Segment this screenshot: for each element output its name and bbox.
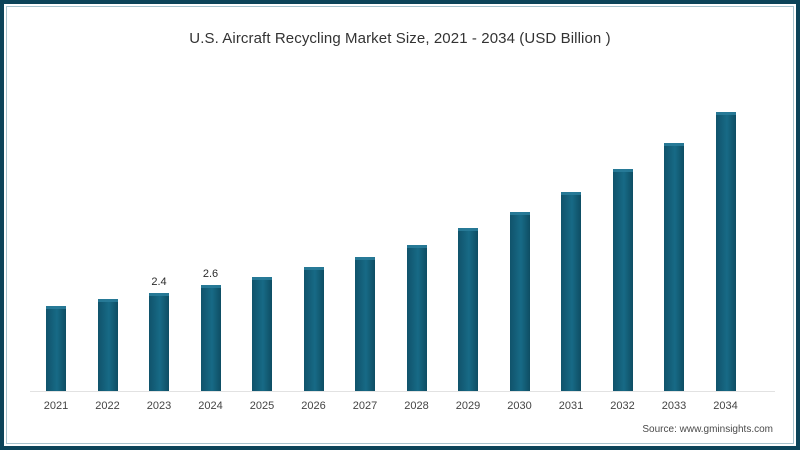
bar-value-label-2023: 2.4 <box>137 276 181 288</box>
bar-top-highlight <box>510 212 530 215</box>
bar-top-highlight <box>664 143 684 146</box>
bar-2025[interactable] <box>252 277 272 391</box>
bar-2032[interactable] <box>613 169 633 391</box>
x-tick-label-2031: 2031 <box>549 400 593 412</box>
x-tick-label-2032: 2032 <box>601 400 645 412</box>
bar-2028[interactable] <box>407 245 427 391</box>
bar-top-highlight <box>252 277 272 280</box>
bar-2034[interactable] <box>716 112 736 391</box>
bar-top-highlight <box>304 267 324 270</box>
x-tick-label-2021: 2021 <box>34 400 78 412</box>
bar-2031[interactable] <box>561 192 581 391</box>
x-tick-label-2033: 2033 <box>652 400 696 412</box>
x-tick-label-2025: 2025 <box>240 400 284 412</box>
x-tick-label-2026: 2026 <box>292 400 336 412</box>
bar-2029[interactable] <box>458 228 478 391</box>
x-tick-label-2034: 2034 <box>704 400 748 412</box>
x-tick-label-2024: 2024 <box>189 400 233 412</box>
bar-2024[interactable] <box>201 285 221 391</box>
x-tick-label-2028: 2028 <box>395 400 439 412</box>
x-axis-line <box>30 391 775 392</box>
bar-top-highlight <box>201 285 221 288</box>
x-tick-label-2023: 2023 <box>137 400 181 412</box>
bar-top-highlight <box>716 112 736 115</box>
bar-top-highlight <box>149 293 169 296</box>
bar-value-label-2024: 2.6 <box>189 268 233 280</box>
bar-2023[interactable] <box>149 293 169 391</box>
bar-top-highlight <box>46 306 66 309</box>
chart-screenshot: U.S. Aircraft Recycling Market Size, 202… <box>0 0 800 450</box>
bar-top-highlight <box>458 228 478 231</box>
bar-2027[interactable] <box>355 257 375 391</box>
source-attribution: Source: www.gminsights.com <box>642 424 773 435</box>
bar-2033[interactable] <box>664 143 684 391</box>
bar-2021[interactable] <box>46 306 66 391</box>
bar-top-highlight <box>407 245 427 248</box>
x-tick-label-2029: 2029 <box>446 400 490 412</box>
bar-2022[interactable] <box>98 299 118 391</box>
bar-top-highlight <box>355 257 375 260</box>
bar-top-highlight <box>561 192 581 195</box>
plot-area <box>30 95 775 392</box>
x-tick-label-2027: 2027 <box>343 400 387 412</box>
bar-2026[interactable] <box>304 267 324 391</box>
bar-top-highlight <box>613 169 633 172</box>
bar-top-highlight <box>98 299 118 302</box>
bar-2030[interactable] <box>510 212 530 391</box>
chart-title: U.S. Aircraft Recycling Market Size, 202… <box>0 30 800 47</box>
x-tick-label-2030: 2030 <box>498 400 542 412</box>
x-tick-label-2022: 2022 <box>86 400 130 412</box>
